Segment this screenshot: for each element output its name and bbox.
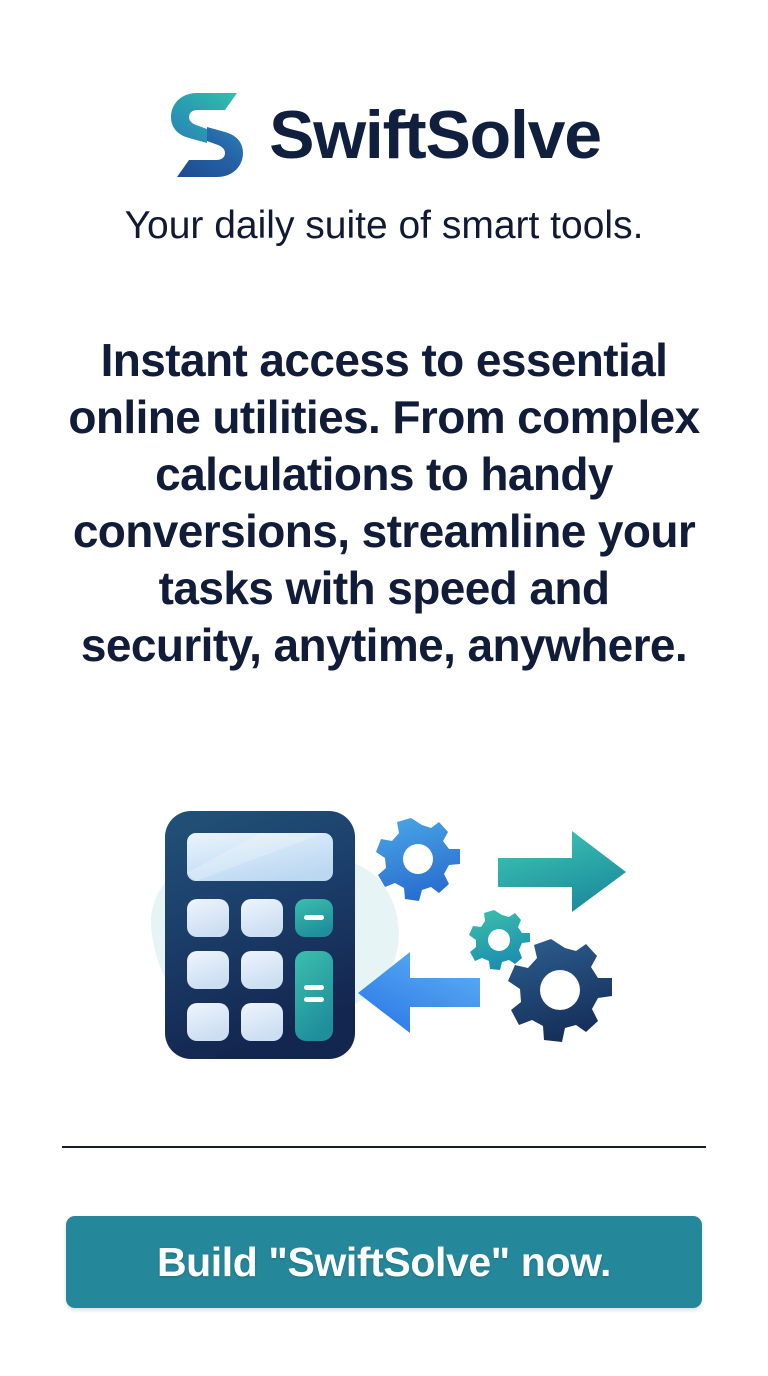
calculator-icon — [165, 811, 355, 1059]
section-divider — [62, 1146, 706, 1148]
calculator-and-gears-illustration — [140, 795, 640, 1085]
build-swiftsolve-button[interactable]: Build "SwiftSolve" now. — [66, 1216, 702, 1308]
brand-header: SwiftSolve — [0, 82, 768, 188]
swiftsolve-s-logo-icon — [167, 87, 247, 183]
gear-blue-large-icon — [376, 818, 460, 901]
arrow-right-icon — [498, 831, 626, 912]
promo-card: SwiftSolve Your daily suite of smart too… — [0, 0, 768, 1376]
minus-key — [295, 899, 333, 937]
brand-name: SwiftSolve — [269, 101, 601, 169]
gear-teal-small-icon — [469, 910, 530, 970]
tagline: Your daily suite of smart tools. — [0, 203, 768, 250]
build-swiftsolve-button-label: Build "SwiftSolve" now. — [157, 1239, 611, 1286]
gear-navy-large-icon — [508, 939, 612, 1042]
equals-key — [295, 951, 333, 1041]
body-description: Instant access to essential online utili… — [64, 332, 704, 674]
